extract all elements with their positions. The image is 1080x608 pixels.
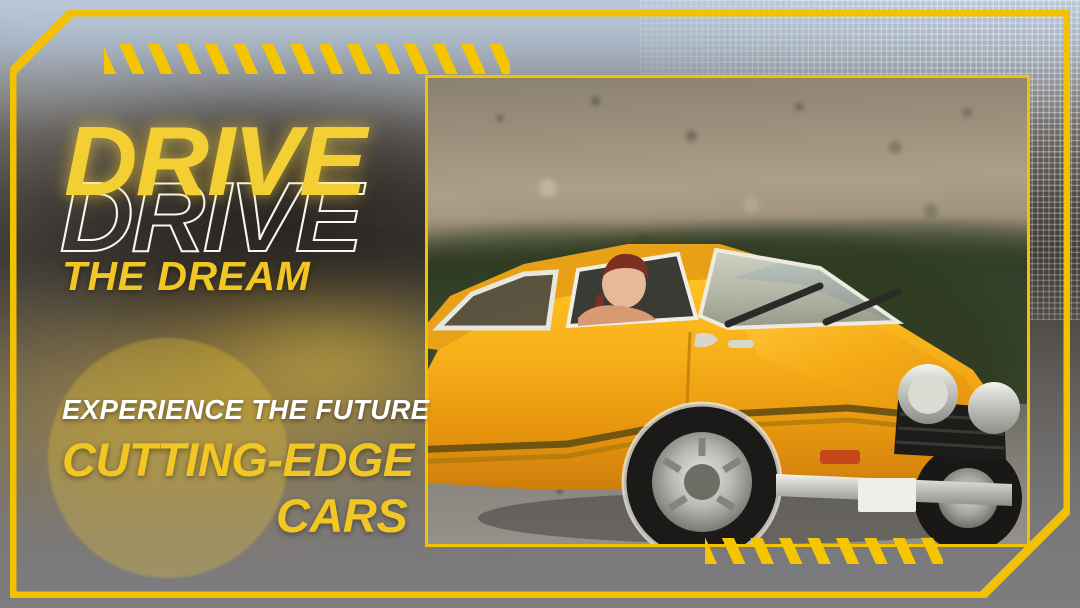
hero-photo: Yellow classic muscle car with driver on… xyxy=(425,75,1030,547)
car-illustration xyxy=(428,78,1030,547)
poster-canvas: Yellow classic muscle car with driver on… xyxy=(0,0,1080,608)
car-license-plate xyxy=(858,478,916,512)
copy-block: DRIVE DRIVE THE DREAM EXPERIENCE THE FUT… xyxy=(0,0,430,608)
headline-group: DRIVE DRIVE xyxy=(60,112,440,252)
promo-line-1: CUTTING-EDGE xyxy=(62,436,414,483)
photo-scene xyxy=(428,78,1027,544)
kicker-text: EXPERIENCE THE FUTURE xyxy=(62,396,429,424)
headline: DRIVE xyxy=(64,112,365,210)
promo-line-2: CARS xyxy=(276,492,407,539)
